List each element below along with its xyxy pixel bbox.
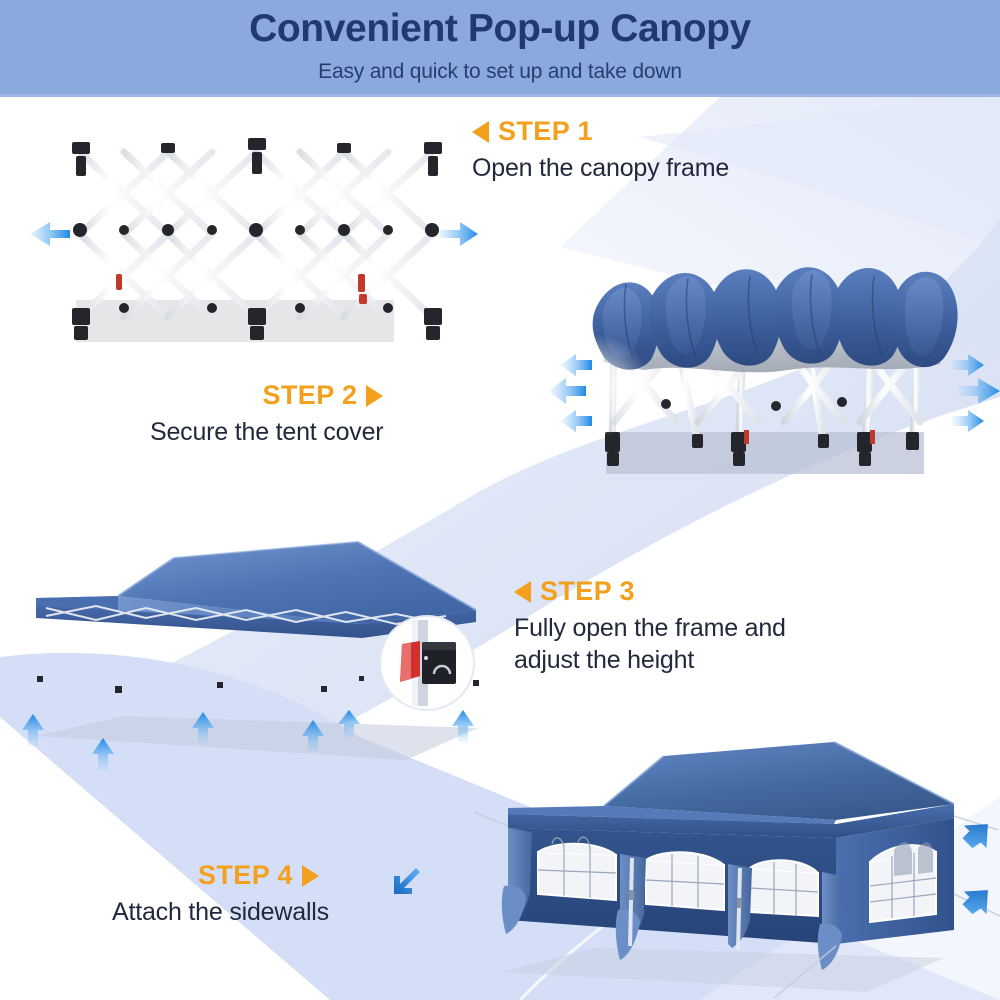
arrow-right-icon [302, 865, 319, 887]
arrow-right-icon [952, 354, 1000, 432]
illustration-folded-frame [28, 122, 478, 352]
step-1-label-row: STEP 1 [472, 118, 729, 145]
illustration-open-canopy [6, 498, 506, 788]
step-1-description: Open the canopy frame [472, 152, 729, 184]
step-3-description: Fully open the frame and adjust the heig… [514, 612, 786, 676]
step-2-label: STEP 2 [262, 382, 357, 409]
arrow-left-icon [514, 581, 531, 603]
step-3-block: STEP 3 Fully open the frame and adjust t… [514, 578, 786, 676]
illustration-canopy-sidewalls [474, 734, 1000, 1000]
arrow-right-icon [366, 385, 383, 407]
step-4-block: STEP 4 Attach the sidewalls [112, 862, 329, 928]
step-2-description: Secure the tent cover [150, 416, 383, 448]
illustration-frame-with-cover [548, 236, 1000, 488]
header-banner: Convenient Pop-up Canopy Easy and quick … [0, 0, 1000, 97]
arrow-down-left-icon [394, 868, 420, 894]
step-1-block: STEP 1 Open the canopy frame [472, 118, 729, 184]
step-1-label: STEP 1 [498, 118, 593, 145]
infographic-page: Convenient Pop-up Canopy Easy and quick … [0, 0, 1000, 1000]
step-3-label-row: STEP 3 [514, 578, 786, 605]
step-4-label: STEP 4 [198, 862, 293, 889]
arrow-right-icon [440, 222, 478, 246]
step-4-label-row: STEP 4 [112, 862, 329, 889]
arrow-left-icon [30, 222, 70, 246]
arrow-left-icon [472, 121, 489, 143]
page-title: Convenient Pop-up Canopy [0, 0, 1000, 48]
height-lock-inset [380, 616, 474, 710]
step-4-pointer-arrow [390, 864, 424, 898]
step-2-block: STEP 2 Secure the tent cover [150, 382, 383, 448]
step-2-label-row: STEP 2 [150, 382, 383, 409]
page-subtitle: Easy and quick to set up and take down [0, 48, 1000, 82]
step-4-description: Attach the sidewalls [112, 896, 329, 928]
step-3-label: STEP 3 [540, 578, 635, 605]
